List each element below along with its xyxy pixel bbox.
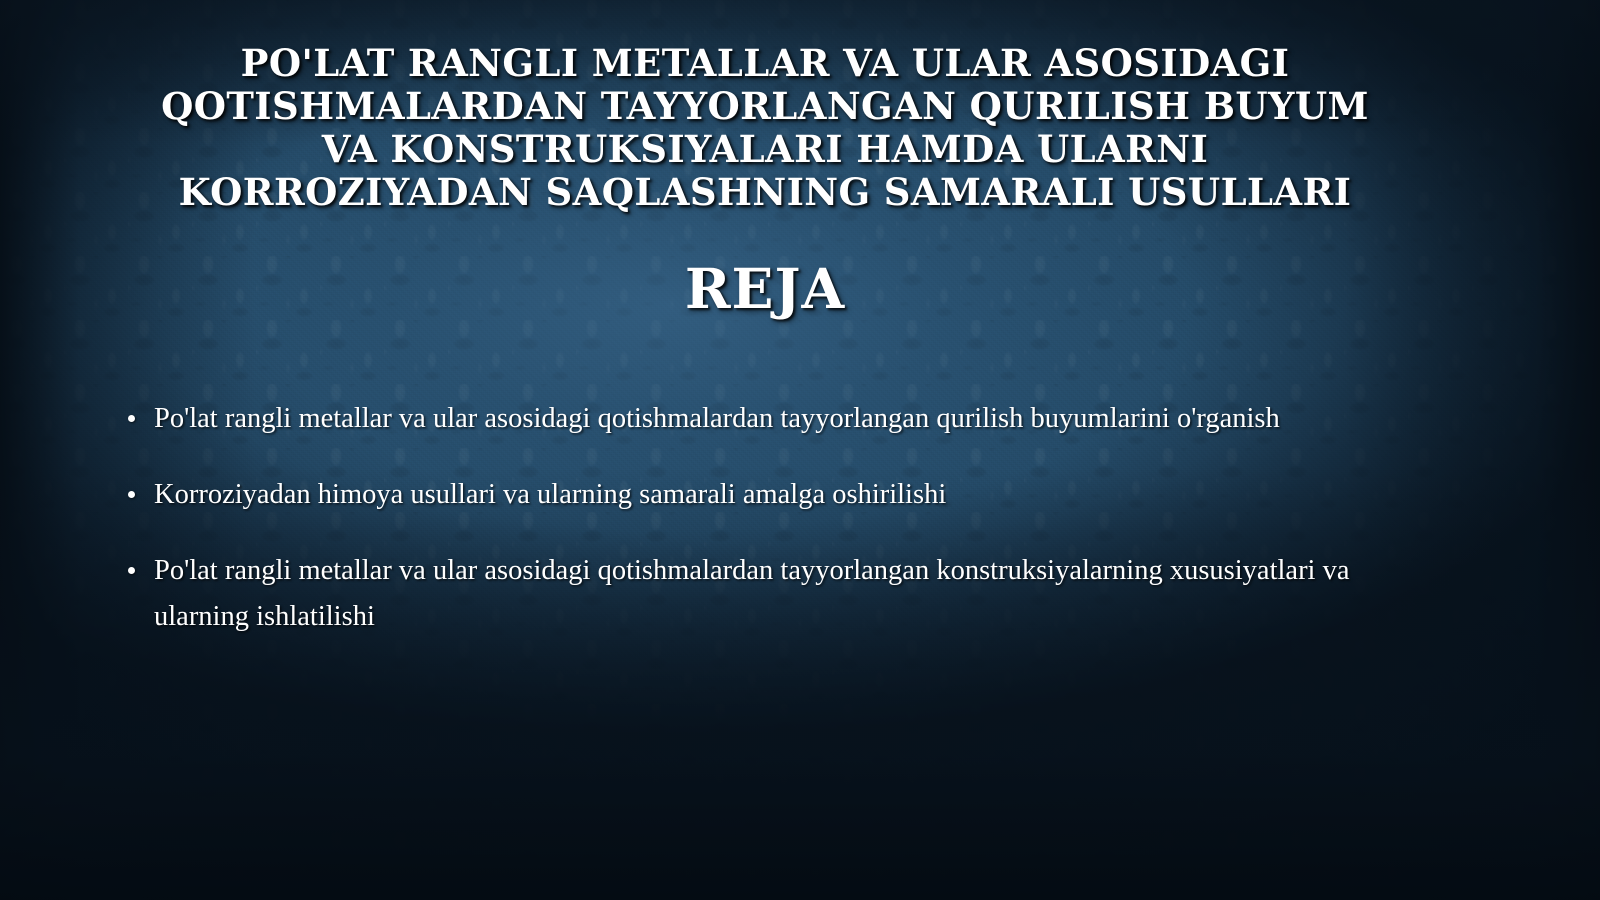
subtitle-block: REJA [150,258,1380,320]
list-item: Korroziyadan himoya usullari va ularning… [120,472,1350,518]
list-item-label: Korroziyadan himoya usullari va ularning… [154,472,1350,518]
bullet-list: Po'lat rangli metallar va ular asosidagi… [120,396,1350,640]
slide-title: PO'LAT RANGLI METALLAR VA ULAR ASOSIDAGI… [150,42,1380,214]
list-item-label: Po'lat rangli metallar va ular asosidagi… [154,548,1350,640]
bullet-dot-icon [128,491,135,498]
bullet-dot-icon [128,415,135,422]
list-item: Po'lat rangli metallar va ular asosidagi… [120,548,1350,640]
bullet-dot-icon [128,567,135,574]
list-item: Po'lat rangli metallar va ular asosidagi… [120,396,1350,442]
presentation-slide: PO'LAT RANGLI METALLAR VA ULAR ASOSIDAGI… [0,0,1600,900]
list-item-label: Po'lat rangli metallar va ular asosidagi… [154,396,1350,442]
title-block: PO'LAT RANGLI METALLAR VA ULAR ASOSIDAGI… [150,42,1380,214]
slide-content: PO'LAT RANGLI METALLAR VA ULAR ASOSIDAGI… [0,0,1600,900]
slide-subtitle: REJA [150,258,1380,320]
